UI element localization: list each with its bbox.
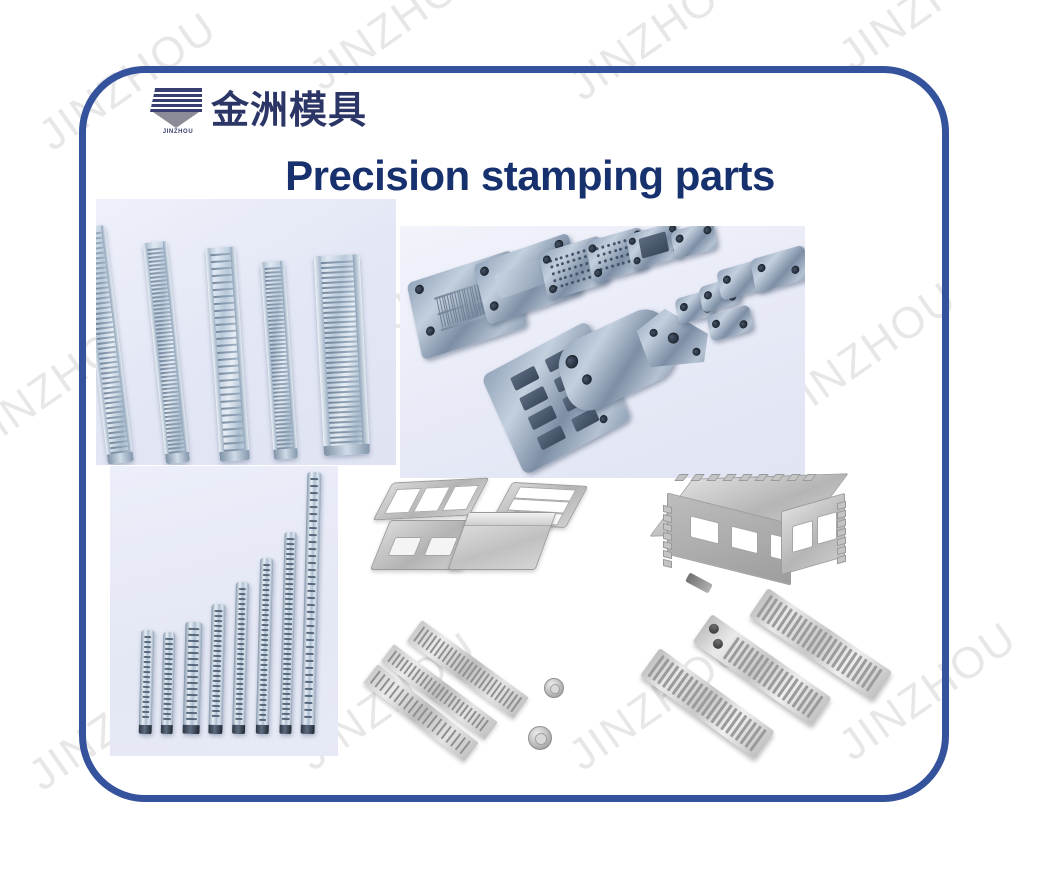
page-title: Precision stamping parts [0,152,1060,200]
brand-logo: JINZHOU 金洲模具 [150,84,367,136]
perforated-tube [183,622,203,734]
slotted-grille-blocks-render [660,578,920,743]
perforated-tube [256,558,274,734]
rail-strip [260,261,298,460]
jinzhou-logo-mark: JINZHOU [150,84,202,136]
watermark-text: JINZHOU [560,0,756,111]
perforated-tube [279,532,296,734]
chassis-tab [663,541,672,550]
product-showcase-canvas: JINZHOUJINZHOUJINZHOUJINZHOUJINZHOUJINZH… [0,0,1060,883]
perforated-tube [139,630,155,734]
rail-strip [143,241,190,464]
watermark-text: JINZHOU [830,0,1026,81]
perforated-tube [301,472,322,734]
stamped-flat-plates-photo [400,226,805,478]
perforated-tube [161,632,176,734]
chassis-tab [837,555,846,565]
slotted-rail-strips-photo [96,199,396,465]
shielding-frame-covers-render [378,478,593,588]
chassis-tab [663,532,672,541]
ferrule-ring [528,726,552,750]
chassis-tab [674,474,688,481]
chassis-tab [663,505,672,514]
perforated-tubes-photo [110,466,338,756]
rail-strip [96,225,134,464]
comb-strip-parts-render [378,618,588,758]
ferrule-ring [544,678,564,698]
perforated-tube [208,604,225,734]
rail-strip [205,246,250,462]
watermark-text: JINZHOU [30,3,226,161]
perforated-tube [232,582,249,734]
stamped-plate [750,245,805,294]
rail-strip [314,254,370,456]
chassis-tab [663,559,672,568]
logo-sub-label: JINZHOU [154,129,202,135]
chassis-tab [663,550,672,559]
logo-chinese-name: 金洲模具 [211,91,367,129]
stamped-plate [670,226,717,260]
